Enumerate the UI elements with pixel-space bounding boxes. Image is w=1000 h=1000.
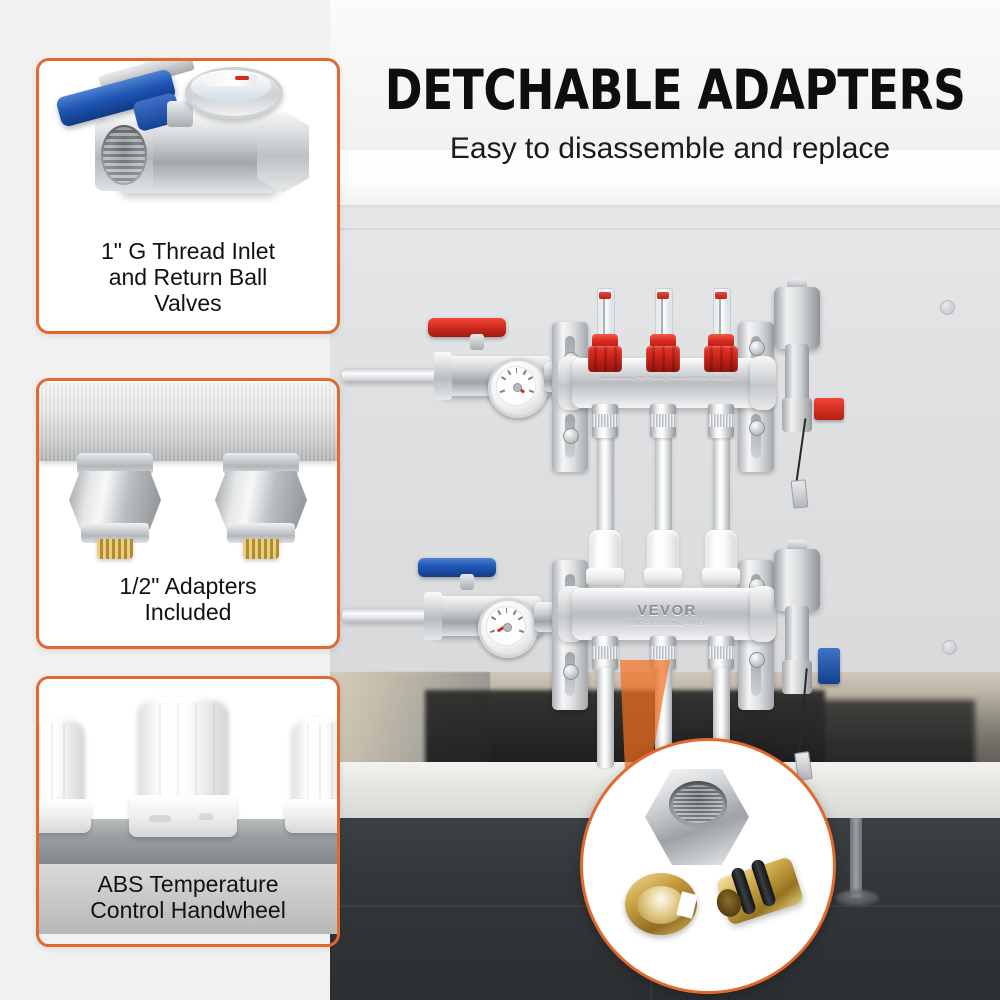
page-title: DETCHABLE ADAPTERS	[385, 58, 955, 122]
handwheel-notch	[149, 815, 171, 822]
feature-card-inlet-return-ball-valves[interactable]: 1" G Thread Inlet and Return Ball Valves	[36, 58, 340, 334]
card-caption-1: 1" G Thread Inlet and Return Ball Valves	[39, 231, 337, 327]
hex-nut-threads	[673, 785, 723, 823]
adapter-brass-tip	[243, 539, 279, 559]
card-photo-adapters	[39, 381, 337, 566]
adapter-hex-nut	[69, 471, 161, 529]
adapter-brass-tip	[97, 539, 133, 559]
handwheel-ring	[285, 799, 337, 833]
valve-stem	[167, 101, 193, 127]
handwheel-ring	[129, 795, 237, 837]
feature-card-adapters-included[interactable]: 1/2" Adapters Included	[36, 378, 340, 649]
valve-hex-end	[257, 111, 309, 193]
feature-card-abs-handwheel[interactable]: ABS Temperature Control Handwheel	[36, 676, 340, 947]
handwheel-dome	[137, 697, 229, 803]
adapter-hex-nut	[215, 471, 307, 529]
valve-bore-threads	[103, 127, 145, 183]
page-subtitle: Easy to disassemble and replace	[360, 132, 980, 166]
valve-gauge-needle	[235, 76, 249, 80]
brass-barbed-insert	[711, 849, 803, 933]
card-photo-handwheels	[39, 679, 337, 864]
handwheel-dome	[291, 717, 337, 805]
card-caption-3: ABS Temperature Control Handwheel	[39, 864, 337, 934]
card-photo-ball-valve	[39, 61, 337, 231]
handwheel-dome	[39, 717, 85, 805]
brushed-texture	[39, 383, 337, 461]
handwheel-ring	[39, 799, 91, 833]
headline-block: DETCHABLE ADAPTERS Easy to disassemble a…	[360, 58, 980, 166]
handwheel-notch	[199, 813, 213, 820]
detachable-adapter-callout	[580, 738, 836, 994]
valve-gauge-dial	[205, 74, 257, 86]
product-marketing-image: Radiant Heating PEX Plumbing Certified N…	[0, 0, 1000, 1000]
card-caption-2: 1/2" Adapters Included	[39, 566, 337, 636]
